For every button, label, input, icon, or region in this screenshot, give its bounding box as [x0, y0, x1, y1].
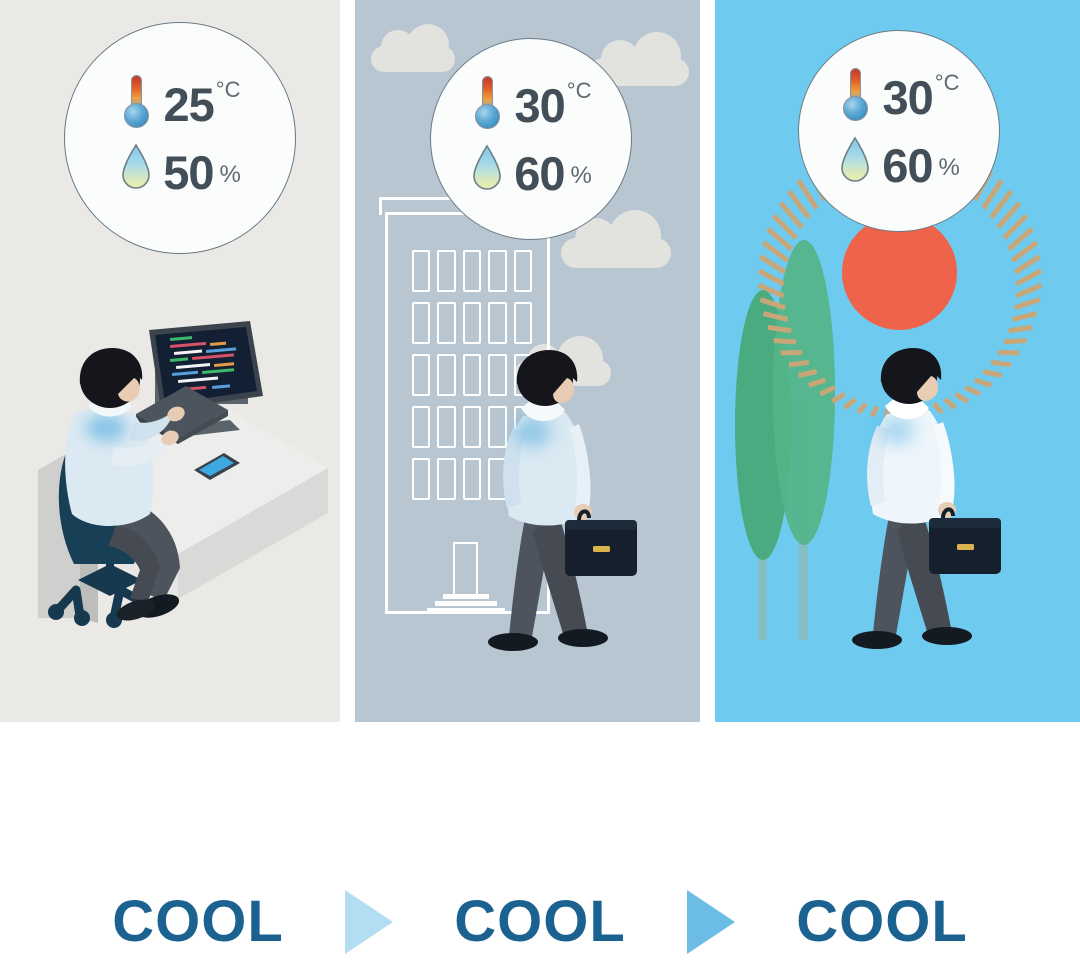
temperature-value: 25 [164, 81, 214, 128]
humidity-value: 60 [514, 150, 564, 197]
humidity-unit: % [938, 154, 959, 182]
humidity-row: 60 % [838, 134, 960, 196]
humidity-unit: % [570, 162, 591, 190]
thermometer-icon [839, 66, 873, 128]
humidity-value: 50 [163, 149, 213, 196]
cloud-icon [561, 238, 671, 268]
humidity-value: 60 [882, 142, 932, 189]
panel-street: 30 °C [355, 0, 700, 722]
office-desk-scene [18, 318, 338, 628]
building-window [412, 406, 430, 448]
humidity-unit: % [219, 161, 240, 189]
sun-disc-icon [842, 215, 957, 330]
arrow-right-icon [345, 890, 393, 954]
building-window [463, 250, 481, 292]
building-window [412, 354, 430, 396]
humidity-row: 50 % [119, 141, 241, 203]
temperature-unit: °C [216, 77, 241, 103]
building-window [437, 354, 455, 396]
water-droplet-icon [470, 142, 504, 204]
temperature-row: 30 °C [471, 74, 592, 136]
building-window [437, 250, 455, 292]
businessman-walking [847, 348, 1037, 683]
building-window [412, 302, 430, 344]
building-window [463, 302, 481, 344]
footer: COOL COOL COOL [0, 722, 1080, 972]
droplet-glyph [840, 136, 870, 184]
building-window [437, 406, 455, 448]
building-window [463, 458, 481, 500]
thermometer-icon [471, 74, 505, 136]
building-window [437, 302, 455, 344]
water-droplet-icon [119, 141, 153, 203]
temperature-row: 25 °C [120, 73, 241, 135]
thermometer-icon [120, 73, 154, 135]
temperature-value: 30 [515, 82, 565, 129]
panel-office: 25 °C [0, 0, 340, 722]
businessman-illustration [847, 348, 1037, 678]
reading-badge-street: 30 °C [430, 38, 632, 240]
building-window [412, 250, 430, 292]
reading-badge-office: 25 °C [64, 22, 296, 254]
building-door [453, 542, 478, 594]
water-droplet-icon [838, 134, 872, 196]
building-window [412, 458, 430, 500]
temperature-row: 30 °C [839, 66, 960, 128]
businessman-illustration [483, 350, 673, 680]
building-window [488, 302, 506, 344]
building-window [437, 458, 455, 500]
building-window [463, 354, 481, 396]
temperature-unit: °C [935, 70, 960, 96]
businessman-walking [483, 350, 673, 685]
temperature-unit: °C [567, 78, 592, 104]
droplet-glyph [121, 143, 151, 191]
humidity-row: 60 % [470, 142, 592, 204]
panel-strip: 25 °C [0, 0, 1080, 722]
cool-sequence: COOL COOL COOL [0, 890, 1080, 954]
droplet-glyph [472, 144, 502, 192]
building-window [463, 406, 481, 448]
panel-outdoors: 30 °C [715, 0, 1080, 722]
building-window [514, 302, 532, 344]
building-window [488, 250, 506, 292]
arrow-right-icon [687, 890, 735, 954]
cool-label-3: COOL [757, 893, 1007, 951]
cool-label-1: COOL [73, 893, 323, 951]
cool-label-2: COOL [415, 893, 665, 951]
office-illustration [18, 318, 338, 628]
temperature-value: 30 [883, 74, 933, 121]
reading-badge-outdoors: 30 °C [798, 30, 1000, 232]
building-window [514, 250, 532, 292]
